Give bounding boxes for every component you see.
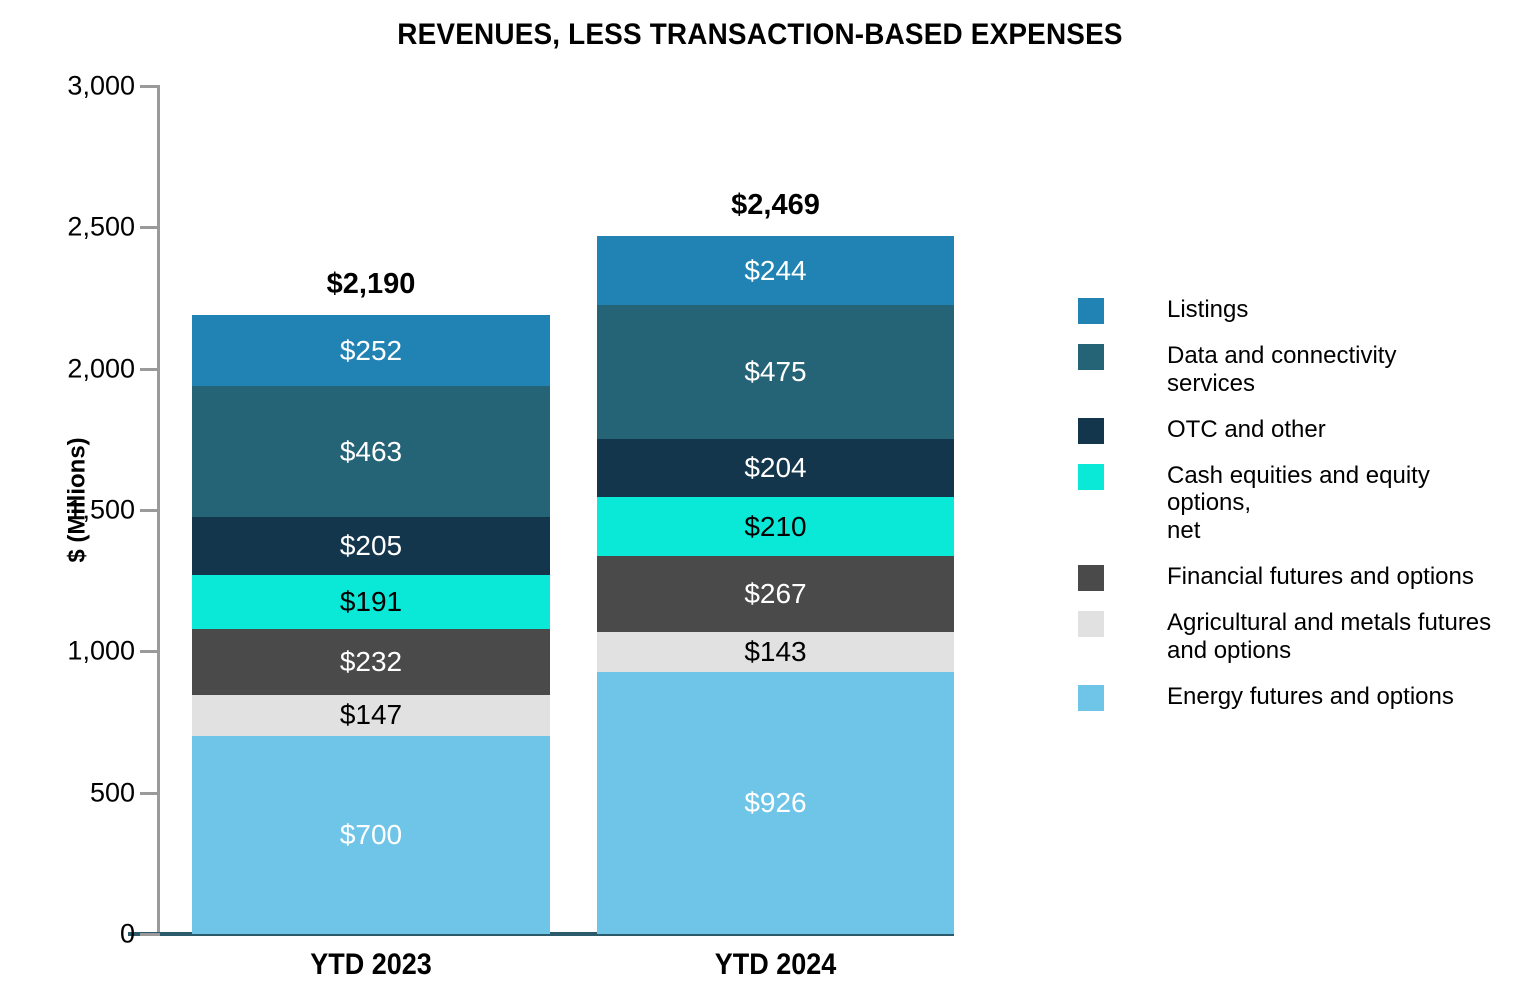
chart-title: REVENUES, LESS TRANSACTION-BASED EXPENSE…: [53, 18, 1467, 52]
bar-segment-value-label: $267: [744, 580, 806, 608]
bar-group[interactable]: $926$143$267$210$204$475$244$2,469: [597, 86, 954, 934]
legend-item-label: Agricultural and metals futures and opti…: [1167, 609, 1491, 665]
legend-item[interactable]: Financial futures and options: [1078, 563, 1508, 591]
legend-color-swatch: [1078, 565, 1104, 591]
stacked-bar-chart: REVENUES, LESS TRANSACTION-BASED EXPENSE…: [0, 0, 1520, 1000]
y-axis-tick-label: 1,000: [67, 638, 135, 665]
legend-item-label: Cash equities and equity options, net: [1167, 462, 1508, 545]
legend-item[interactable]: Agricultural and metals futures and opti…: [1078, 609, 1508, 665]
bar-segment[interactable]: $210: [597, 497, 954, 556]
bar-total-label: $2,469: [597, 189, 954, 222]
bar-segment-value-label: $143: [744, 638, 806, 666]
legend-item-label: Energy futures and options: [1167, 683, 1454, 711]
bar-segment-value-label: $700: [340, 821, 402, 849]
legend-item-label: OTC and other: [1167, 416, 1326, 444]
legend-item-label: Data and connectivity services: [1167, 342, 1396, 398]
x-axis-category-label: YTD 2023: [210, 948, 532, 982]
y-axis-tick-label: 2,500: [67, 214, 135, 241]
bar-segment[interactable]: $204: [597, 439, 954, 497]
bar-segment-value-label: $232: [340, 648, 402, 676]
bar-segment[interactable]: $147: [192, 695, 550, 737]
bar-stack: $926$143$267$210$204$475$244: [597, 236, 954, 934]
legend-item-label: Listings: [1167, 296, 1248, 324]
legend-item[interactable]: OTC and other: [1078, 416, 1508, 444]
bar-segment[interactable]: $267: [597, 556, 954, 631]
bar-segment-value-label: $204: [744, 454, 806, 482]
bar-segment[interactable]: $143: [597, 632, 954, 672]
bar-segment-value-label: $244: [744, 257, 806, 285]
legend-color-swatch: [1078, 418, 1104, 444]
x-axis-category-label: YTD 2024: [615, 948, 936, 982]
y-axis-tick-label: 3,000: [67, 73, 135, 100]
bar-segment[interactable]: $700: [192, 736, 550, 934]
y-axis-tick-label: 2,000: [67, 355, 135, 382]
legend-item[interactable]: Cash equities and equity options, net: [1078, 462, 1508, 545]
bar-group[interactable]: $700$147$232$191$205$463$252$2,190: [192, 86, 550, 934]
bar-stack: $700$147$232$191$205$463$252: [192, 315, 550, 934]
bar-segment[interactable]: $926: [597, 672, 954, 934]
bar-segment[interactable]: $244: [597, 236, 954, 305]
y-axis-tick-label: 500: [90, 779, 135, 806]
y-axis-tick-label: 1,500: [67, 497, 135, 524]
bar-segment[interactable]: $191: [192, 575, 550, 629]
bar-segment-value-label: $191: [340, 588, 402, 616]
legend-item-label: Financial futures and options: [1167, 563, 1474, 591]
legend-item[interactable]: Listings: [1078, 296, 1508, 324]
bar-segment[interactable]: $205: [192, 517, 550, 575]
bar-segment[interactable]: $475: [597, 305, 954, 439]
legend-color-swatch: [1078, 611, 1104, 637]
bar-segment-value-label: $926: [744, 789, 806, 817]
bar-total-label: $2,190: [192, 268, 550, 301]
bar-segment[interactable]: $232: [192, 629, 550, 695]
legend-color-swatch: [1078, 298, 1104, 324]
y-axis-tick-label: 0: [120, 921, 135, 948]
bar-segment-value-label: $475: [744, 358, 806, 386]
legend-item[interactable]: Energy futures and options: [1078, 683, 1508, 711]
chart-legend: ListingsData and connectivity servicesOT…: [1078, 296, 1508, 729]
bar-segment-value-label: $205: [340, 532, 402, 560]
bar-segment-value-label: $147: [340, 701, 402, 729]
bar-segment[interactable]: $252: [192, 315, 550, 386]
bar-segment-value-label: $210: [744, 513, 806, 541]
bar-segment-value-label: $463: [340, 438, 402, 466]
legend-color-swatch: [1078, 685, 1104, 711]
legend-color-swatch: [1078, 344, 1104, 370]
legend-item[interactable]: Data and connectivity services: [1078, 342, 1508, 398]
bar-segment-value-label: $252: [340, 337, 402, 365]
legend-color-swatch: [1078, 464, 1104, 490]
bar-segment[interactable]: $463: [192, 386, 550, 517]
plot-area: $700$147$232$191$205$463$252$2,190$926$1…: [157, 86, 1037, 934]
